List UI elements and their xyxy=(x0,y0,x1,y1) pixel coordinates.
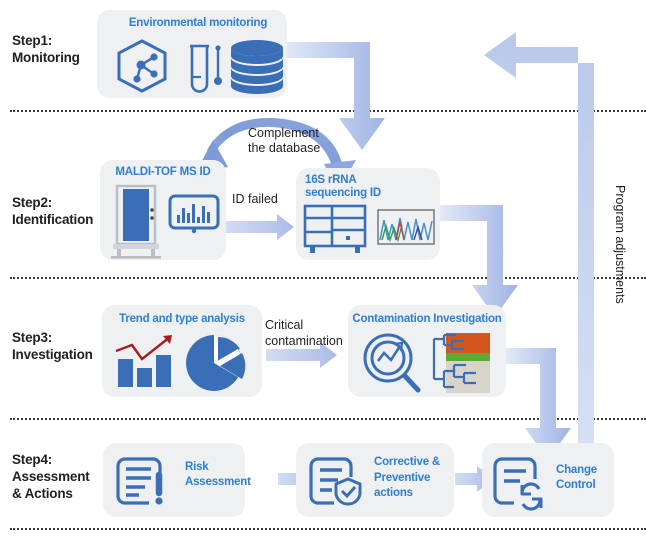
card-title-environmental-monitoring: Environmental monitoring xyxy=(113,17,283,30)
complement-line-1: Complement xyxy=(248,126,358,141)
arrow-id-failed xyxy=(225,214,294,240)
critical-line-1: Critical xyxy=(265,318,357,334)
maldi-tof-icons xyxy=(100,184,226,260)
card-16s-rrna-sequencing-id[interactable]: 16S rRNA sequencing ID xyxy=(296,168,440,260)
document-shield-check-icon xyxy=(311,459,360,504)
contamination-icons xyxy=(348,331,506,395)
step4-label-line-3: & Actions xyxy=(12,486,90,503)
database-stack-icon xyxy=(231,40,283,94)
step2-label-line-2: Identification xyxy=(12,212,93,229)
connector-label-program-adjustments: Program adjustments xyxy=(613,185,627,304)
document-refresh-icon xyxy=(495,459,541,509)
step-label-step3: Step3: Investigation xyxy=(12,330,93,364)
card-environmental-monitoring[interactable]: Environmental monitoring xyxy=(97,10,287,98)
card-title-16s-line-1: 16S rRNA xyxy=(305,174,435,187)
phylogenetic-tree-icon xyxy=(434,333,490,393)
card-title-corrective-preventive-actions: Corrective & Preventive actions xyxy=(374,455,448,502)
electropherogram-icon xyxy=(378,210,434,244)
bar-chart-trend-icon xyxy=(116,335,172,387)
workflow-diagram: Step1: Monitoring Environmental monitori… xyxy=(0,0,646,537)
card-change-control[interactable]: Change Control xyxy=(482,443,614,517)
risk-line-1: Risk xyxy=(185,460,243,475)
id-failed-line-1: ID failed xyxy=(232,192,302,208)
step1-label-line-1: Step1: xyxy=(12,33,80,50)
card-trend-and-type-analysis[interactable]: Trend and type analysis xyxy=(102,305,262,397)
capa-line-2: Preventive xyxy=(374,471,448,487)
card-title-trend-and-type-analysis: Trend and type analysis xyxy=(107,313,257,326)
change-line-2: Control xyxy=(556,478,612,493)
card-maldi-tof-ms-id[interactable]: MALDI-TOF MS ID xyxy=(100,160,226,260)
card-title-contamination-investigation: Contamination Investigation xyxy=(351,313,503,326)
mass-spectrometer-icon xyxy=(111,186,161,259)
document-exclamation-icon xyxy=(118,459,163,505)
card-title-change-control: Change Control xyxy=(556,463,612,493)
arrow-program-adjustments-return xyxy=(484,32,594,470)
section-divider-3 xyxy=(10,418,646,420)
card-contamination-investigation[interactable]: Contamination Investigation xyxy=(348,305,506,397)
change-line-1: Change xyxy=(556,463,612,478)
step-label-step4: Step4: Assessment & Actions xyxy=(12,452,90,503)
step-label-step2: Step2: Identification xyxy=(12,195,93,229)
sequencer-icon xyxy=(305,206,365,253)
environmental-monitoring-icons xyxy=(97,36,287,96)
card-title-risk-assessment: Risk Assessment xyxy=(185,460,243,490)
capa-icon-wrap xyxy=(308,453,368,509)
trend-analysis-icons xyxy=(102,333,262,395)
connector-label-critical-contamination: Critical contamination xyxy=(265,318,357,349)
step1-label-line-2: Monitoring xyxy=(12,50,80,67)
section-divider-4 xyxy=(10,528,646,530)
card-title-maldi-tof-ms-id: MALDI-TOF MS ID xyxy=(104,166,222,179)
change-control-icon-wrap xyxy=(492,453,552,509)
section-divider-2 xyxy=(10,277,646,279)
magnifier-trend-icon xyxy=(365,335,418,390)
connector-label-id-failed: ID failed xyxy=(232,192,302,208)
capa-line-1: Corrective & xyxy=(374,455,448,471)
network-hexagon-icon xyxy=(119,41,165,91)
step4-label-line-1: Step4: xyxy=(12,452,90,469)
complement-line-2: the database xyxy=(248,141,358,156)
card-risk-assessment[interactable]: Risk Assessment xyxy=(103,443,245,517)
card-title-16s-rrna: 16S rRNA sequencing ID xyxy=(305,174,435,200)
arrow-step2-to-step3 xyxy=(440,205,518,317)
card-corrective-preventive-actions[interactable]: Corrective & Preventive actions xyxy=(296,443,454,517)
card-title-16s-line-2: sequencing ID xyxy=(305,187,435,200)
capa-line-3: actions xyxy=(374,486,448,502)
mass-spectrum-monitor-icon xyxy=(170,196,218,233)
step2-label-line-1: Step2: xyxy=(12,195,93,212)
section-divider-1 xyxy=(10,110,646,112)
critical-line-2: contamination xyxy=(265,334,357,350)
risk-line-2: Assessment xyxy=(185,475,243,490)
sequencing-icons xyxy=(296,202,440,258)
test-tube-swab-icon xyxy=(190,45,222,91)
step4-label-line-2: Assessment xyxy=(12,469,90,486)
risk-assessment-icon-wrap xyxy=(115,453,177,509)
step-label-step1: Step1: Monitoring xyxy=(12,33,80,67)
pie-chart-icon xyxy=(186,335,245,391)
connector-label-complement-the-database: Complement the database xyxy=(248,126,358,156)
step3-label-line-1: Step3: xyxy=(12,330,93,347)
step3-label-line-2: Investigation xyxy=(12,347,93,364)
